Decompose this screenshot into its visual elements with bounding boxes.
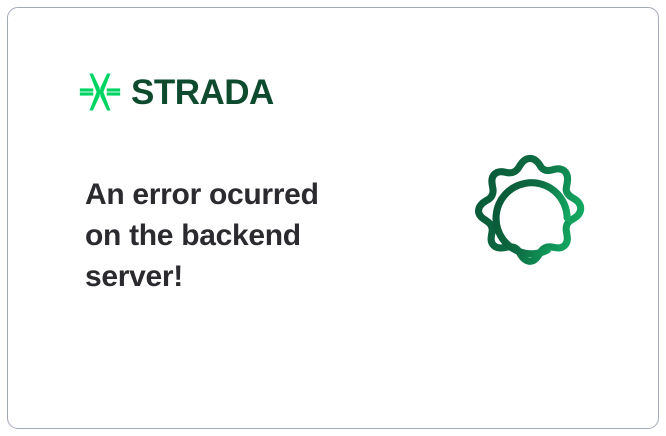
error-message-line-1: An error ocurred — [85, 174, 385, 215]
error-message: An error ocurred on the backend server! — [85, 174, 385, 297]
brand-lockup: STRADA — [79, 71, 274, 113]
error-message-line-3: server! — [85, 256, 385, 297]
gear-spinner-icon — [451, 149, 609, 307]
error-card: STRADA An error ocurred on the backend s… — [7, 7, 659, 429]
brand-wordmark: STRADA — [131, 75, 274, 110]
strada-starburst-icon — [79, 71, 121, 113]
error-page: STRADA An error ocurred on the backend s… — [0, 0, 666, 436]
error-message-line-2: on the backend — [85, 215, 385, 256]
